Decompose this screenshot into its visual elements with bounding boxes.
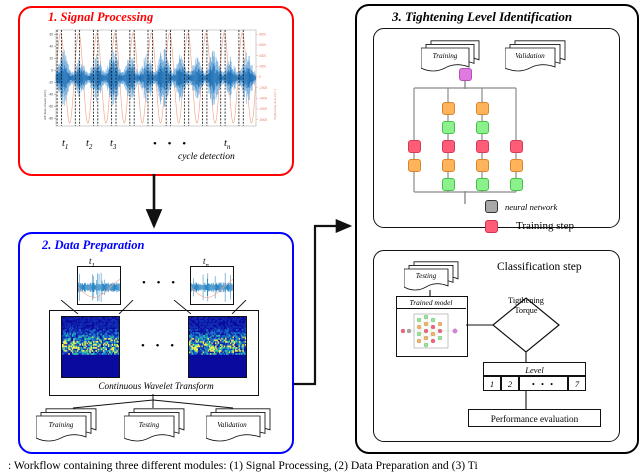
dataset-stack-testing: Testing [124, 408, 186, 449]
svg-text:4000: 4000 [259, 54, 266, 58]
network-node [442, 140, 455, 153]
classification-heading: Classification step [497, 261, 582, 273]
cycle-tick-labels: t1 t2 t3 • • • tn [40, 138, 275, 154]
level-cell-7: 7 [568, 376, 586, 391]
training-stack-label-validation: Validation [505, 52, 555, 60]
svg-text:60: 60 [49, 32, 53, 36]
cycle-label-t1: t1 [62, 138, 68, 151]
network-node [442, 159, 455, 172]
cycle-detection-note: cycle detection [178, 152, 235, 162]
svg-text:-40: -40 [48, 92, 53, 96]
svg-text:0: 0 [259, 75, 261, 79]
network-input-node [459, 68, 472, 81]
svg-text:-4000: -4000 [259, 96, 267, 100]
network-node [442, 178, 455, 191]
cwt-spectrogram-t1 [61, 316, 120, 378]
dataset-label-validation: Validation [206, 421, 258, 429]
dataset-label-training: Training [36, 421, 86, 429]
svg-text:-6000: -6000 [259, 107, 267, 111]
svg-text:-60: -60 [48, 104, 53, 108]
signal-plot-svg: 6040200-20-40-60-80 80006000400020000-20… [40, 28, 275, 136]
svg-text:-8000: -8000 [259, 118, 267, 122]
network-node [476, 178, 489, 191]
trained-model-network [400, 310, 464, 353]
signal-plot: 6040200-20-40-60-80 80006000400020000-20… [40, 28, 275, 136]
network-node [510, 159, 523, 172]
svg-text:2000: 2000 [259, 64, 266, 68]
training-stack-label-training: Training [421, 52, 469, 60]
dataset-stack-training: Training [36, 408, 98, 449]
cwt-spectrogram-tn-svg [189, 317, 246, 377]
performance-evaluation-box: Performance evaluation [468, 409, 601, 427]
legend-neural-network: neural network [505, 202, 557, 212]
trained-model-label: Trained model [396, 296, 466, 309]
network-node [510, 178, 523, 191]
legend-training-step: Training step [516, 220, 574, 232]
cwt-spectrogram-t1-svg [62, 317, 119, 377]
level-cell-ellipsis: • • • [519, 376, 568, 391]
svg-text:-20: -20 [48, 80, 53, 84]
training-step-node-icon [485, 220, 498, 233]
decision-label-line2: Torque [493, 306, 559, 316]
figure-caption: : Workflow containing three different mo… [8, 459, 640, 472]
module-1-title: 1. Signal Processing [48, 10, 153, 25]
classification-label-testing: Testing [404, 272, 448, 280]
network-node [476, 102, 489, 115]
module-2-title: 2. Data Preparation [42, 238, 144, 253]
cycle-label-t3: t3 [110, 138, 116, 151]
dataset-stack-validation: Validation [206, 408, 272, 449]
arrow-module2-to-module3 [290, 226, 350, 384]
svg-text:-2000: -2000 [259, 86, 267, 90]
cycle-label-t2: t2 [86, 138, 92, 151]
cwt-funnel-lines [49, 300, 257, 314]
prep-ellipsis-top: • • • [142, 277, 179, 289]
neural-network-nodes [373, 74, 618, 209]
decision-label: TigtheningTorque [493, 296, 559, 316]
mini-signal-t1-svg [78, 267, 120, 304]
network-node [476, 121, 489, 134]
network-node [442, 121, 455, 134]
svg-text:8000: 8000 [259, 32, 266, 36]
svg-text:0: 0 [51, 68, 53, 72]
axis-label-right: Tightening data (mV) [273, 89, 277, 120]
network-node [408, 159, 421, 172]
svg-text:6000: 6000 [259, 43, 266, 47]
dataset-label-testing: Testing [124, 421, 174, 429]
cycle-label-tn: tn [224, 138, 230, 151]
svg-text:-80: -80 [48, 116, 53, 120]
mini-signal-tn-svg [191, 267, 233, 304]
decision-label-line1: Tigthening [493, 296, 559, 306]
network-node [476, 140, 489, 153]
network-node [510, 140, 523, 153]
svg-text:20: 20 [49, 56, 53, 60]
svg-text:40: 40 [49, 44, 53, 48]
cycle-ellipsis: • • • [153, 138, 190, 150]
cwt-caption: Continuous Wavelet Transform [58, 382, 254, 392]
module-3-title: 3. Tightening Level Identification [392, 9, 572, 25]
cwt-spectrogram-tn [188, 316, 247, 378]
level-table-header: Level [483, 362, 586, 376]
network-node [476, 159, 489, 172]
network-node [442, 102, 455, 115]
level-cell-1: 1 [483, 376, 501, 391]
level-cell-2: 2 [501, 376, 519, 391]
network-output-node-icon [485, 200, 498, 213]
prep-ellipsis-cwt: • • • [141, 340, 178, 352]
network-node [408, 140, 421, 153]
axis-label-left: AE data stream (mV) [43, 90, 47, 120]
